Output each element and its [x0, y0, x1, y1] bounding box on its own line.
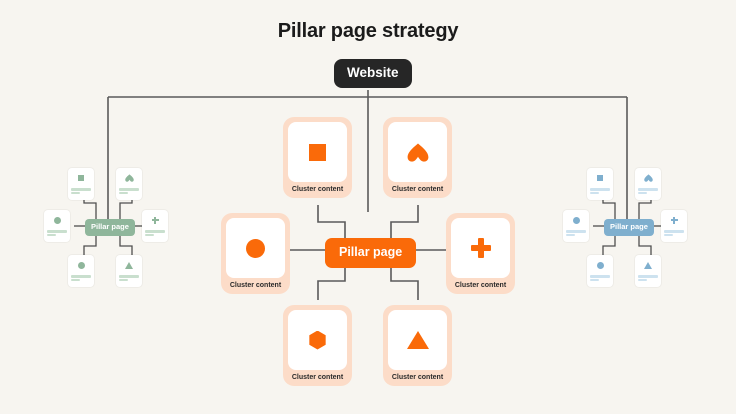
- right-mini-card-middle-left[interactable]: [563, 210, 589, 242]
- circle-icon: [597, 262, 604, 269]
- right-mini-card-middle-right[interactable]: [661, 210, 687, 242]
- card-face: [68, 255, 94, 275]
- square-icon: [78, 175, 84, 181]
- triangle-icon: [644, 262, 652, 269]
- card-face: [288, 310, 347, 370]
- card-face: [388, 122, 447, 182]
- text-line: [590, 279, 599, 281]
- card-face: [587, 168, 613, 188]
- right-cluster-hub[interactable]: Pillar page: [604, 219, 654, 236]
- cluster-card-middle-right[interactable]: Cluster content: [446, 213, 515, 294]
- card-face: [451, 218, 510, 278]
- right-mini-card-top-right[interactable]: [635, 168, 661, 200]
- cluster-card-bottom-right[interactable]: Cluster content: [383, 305, 452, 386]
- card-face: [563, 210, 589, 230]
- page-title: Pillar page strategy: [0, 20, 736, 43]
- text-line: [119, 192, 128, 194]
- text-line: [145, 234, 154, 236]
- text-line: [638, 188, 658, 191]
- heart-icon: [644, 174, 653, 182]
- cluster-card-label: Cluster content: [288, 370, 347, 386]
- card-face: [635, 168, 661, 188]
- card-face: [635, 255, 661, 275]
- text-line: [590, 275, 610, 278]
- card-face: [142, 210, 168, 230]
- text-line: [71, 279, 80, 281]
- right-mini-card-top-left[interactable]: [587, 168, 613, 200]
- text-line: [71, 192, 80, 194]
- text-line: [119, 275, 139, 278]
- text-line: [119, 279, 128, 281]
- text-line: [638, 192, 647, 194]
- card-face: [116, 168, 142, 188]
- hexagon-icon: [308, 331, 327, 350]
- left-mini-card-top-right[interactable]: [116, 168, 142, 200]
- diagram-canvas: Pillar page strategy Website Pillar page…: [0, 0, 736, 414]
- text-line: [638, 279, 647, 281]
- cluster-card-top-right[interactable]: Cluster content: [383, 117, 452, 198]
- left-mini-card-middle-right[interactable]: [142, 210, 168, 242]
- text-line: [47, 230, 67, 233]
- plus-icon: [671, 217, 678, 224]
- heart-icon: [407, 143, 429, 162]
- left-mini-card-bottom-left[interactable]: [68, 255, 94, 287]
- left-mini-card-top-left[interactable]: [68, 168, 94, 200]
- card-face: [661, 210, 687, 230]
- text-line: [566, 230, 586, 233]
- text-line: [590, 188, 610, 191]
- text-line: [47, 234, 56, 236]
- card-face: [68, 168, 94, 188]
- plus-icon: [152, 217, 159, 224]
- circle-icon: [54, 217, 61, 224]
- cluster-card-bottom-left[interactable]: Cluster content: [283, 305, 352, 386]
- right-mini-card-bottom-left[interactable]: [587, 255, 613, 287]
- cluster-card-label: Cluster content: [388, 182, 447, 198]
- right-mini-card-bottom-right[interactable]: [635, 255, 661, 287]
- circle-icon: [78, 262, 85, 269]
- text-line: [664, 230, 684, 233]
- text-line: [664, 234, 673, 236]
- cluster-card-top-left[interactable]: Cluster content: [283, 117, 352, 198]
- card-face: [288, 122, 347, 182]
- card-face: [226, 218, 285, 278]
- left-mini-card-bottom-right[interactable]: [116, 255, 142, 287]
- cluster-card-label: Cluster content: [226, 278, 285, 294]
- card-face: [587, 255, 613, 275]
- text-line: [119, 188, 139, 191]
- triangle-icon: [125, 262, 133, 269]
- circle-icon: [573, 217, 580, 224]
- left-cluster-hub[interactable]: Pillar page: [85, 219, 135, 236]
- cluster-card-label: Cluster content: [388, 370, 447, 386]
- cluster-card-label: Cluster content: [288, 182, 347, 198]
- heart-icon: [125, 174, 134, 182]
- cluster-card-label: Cluster content: [451, 278, 510, 294]
- website-node[interactable]: Website: [334, 59, 412, 88]
- circle-icon: [246, 239, 265, 258]
- plus-icon: [471, 238, 491, 258]
- pillar-page-node[interactable]: Pillar page: [325, 238, 416, 268]
- text-line: [638, 275, 658, 278]
- card-face: [116, 255, 142, 275]
- text-line: [590, 192, 599, 194]
- square-icon: [597, 175, 603, 181]
- text-line: [566, 234, 575, 236]
- card-face: [388, 310, 447, 370]
- triangle-icon: [407, 331, 429, 349]
- text-line: [71, 188, 91, 191]
- text-line: [145, 230, 165, 233]
- cluster-card-middle-left[interactable]: Cluster content: [221, 213, 290, 294]
- square-icon: [309, 144, 326, 161]
- left-mini-card-middle-left[interactable]: [44, 210, 70, 242]
- card-face: [44, 210, 70, 230]
- text-line: [71, 275, 91, 278]
